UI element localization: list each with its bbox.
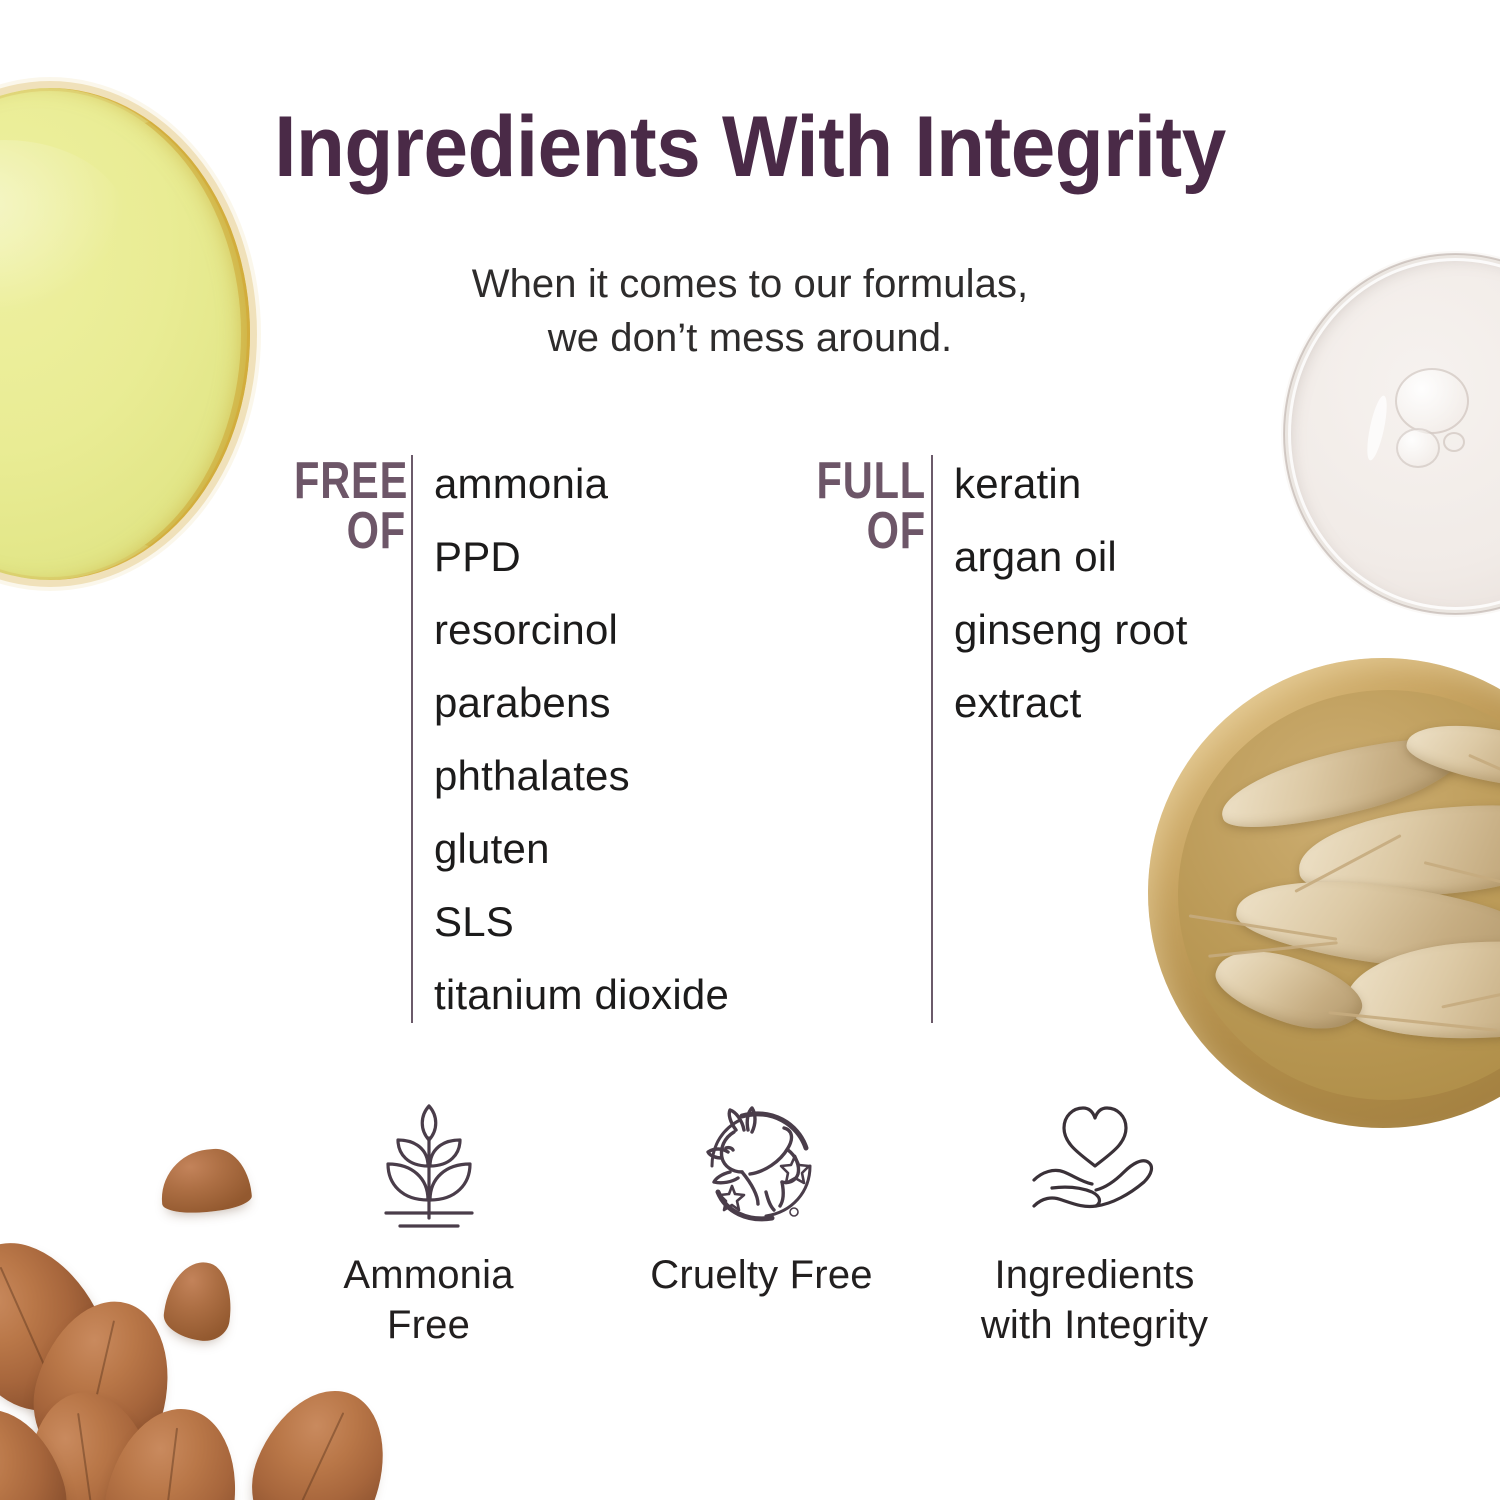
gel-bubble-large (1395, 368, 1469, 434)
badge-caption-line-1: Ammonia (343, 1250, 513, 1300)
free-of-label-line-1: FREE (294, 456, 406, 506)
ginseng-roots-image (1178, 690, 1500, 1100)
list-item: ginseng root (954, 598, 1188, 671)
list-item: SLS (434, 890, 729, 963)
full-of-list: keratin argan oil ginseng root extract (954, 452, 1188, 744)
free-of-divider (411, 455, 413, 1023)
list-item: resorcinol (434, 598, 729, 671)
page-subtitle: When it comes to our formulas, we don’t … (0, 258, 1500, 365)
list-item: argan oil (954, 525, 1188, 598)
subtitle-line-2: we don’t mess around. (0, 312, 1500, 366)
full-of-label-line-2: OF (814, 506, 926, 556)
list-item: phthalates (434, 744, 729, 817)
list-item: PPD (434, 525, 729, 598)
list-item: keratin (954, 452, 1188, 525)
gel-highlight-streak (1363, 394, 1390, 461)
certification-badges: Ammonia Free (262, 1100, 1262, 1350)
page-title: Ingredients With Integrity (53, 104, 1448, 190)
free-of-label: FREE OF (294, 456, 406, 557)
list-item: titanium dioxide (434, 963, 729, 1036)
brass-bowl (1148, 658, 1500, 1128)
subtitle-line-1: When it comes to our formulas, (0, 258, 1500, 312)
badge-caption-line-1: Cruelty Free (650, 1250, 872, 1300)
badge-ingredients-integrity: Ingredients with Integrity (928, 1100, 1261, 1350)
leaping-bunny-icon (696, 1100, 828, 1232)
full-of-divider (931, 455, 933, 1023)
list-item: parabens (434, 671, 729, 744)
gel-bubble-medium (1396, 428, 1440, 468)
list-item: extract (954, 671, 1188, 744)
badge-caption-line-2: Free (343, 1300, 513, 1350)
badge-caption: Ingredients with Integrity (981, 1250, 1208, 1350)
heart-in-hand-icon (1020, 1100, 1170, 1232)
sprout-plant-icon (364, 1100, 494, 1232)
badge-caption-line-2: with Integrity (981, 1300, 1208, 1350)
list-item: ammonia (434, 452, 729, 525)
full-of-label-line-1: FULL (814, 456, 926, 506)
free-of-list: ammonia PPD resorcinol parabens phthalat… (434, 452, 729, 1036)
full-of-label: FULL OF (814, 456, 926, 557)
gel-bubble-small (1443, 432, 1465, 452)
badge-caption: Cruelty Free (650, 1250, 872, 1300)
infographic-page: Ingredients With Integrity When it comes… (0, 0, 1500, 1500)
badge-caption-line-1: Ingredients (981, 1250, 1208, 1300)
free-of-label-line-2: OF (294, 506, 406, 556)
badge-caption: Ammonia Free (343, 1250, 513, 1350)
badge-ammonia-free: Ammonia Free (262, 1100, 595, 1350)
badge-cruelty-free: Cruelty Free (595, 1100, 928, 1350)
list-item: gluten (434, 817, 729, 890)
